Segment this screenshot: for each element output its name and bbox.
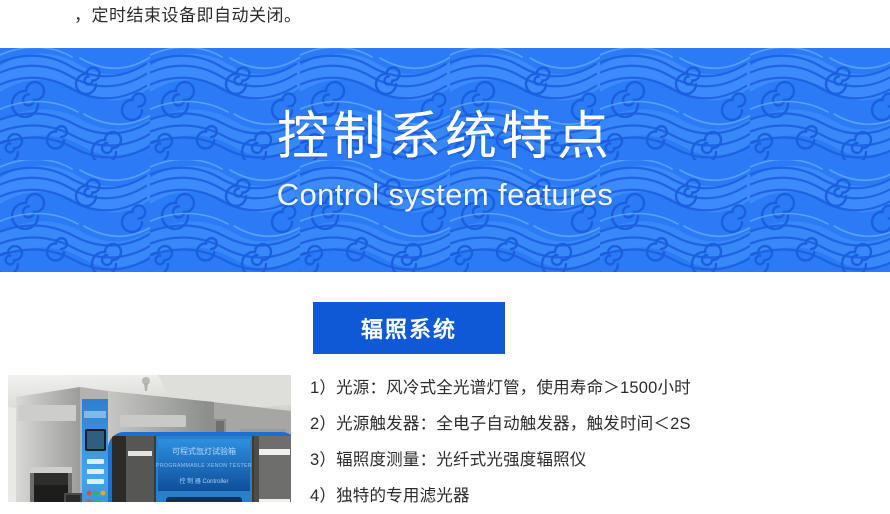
feature-list: 1）光源：风冷式全光谱灯管，使用寿命＞1500小时 2）光源触发器：全电子自动触… xyxy=(310,370,870,514)
section-tag-label: 辐照系统 xyxy=(361,312,457,344)
page-subtitle: Control system features xyxy=(277,177,614,213)
svg-text:PROGRAMMABLE XENON TESTER: PROGRAMMABLE XENON TESTER xyxy=(156,463,252,469)
banner-text-block: 控制系统特点 Control system features xyxy=(0,48,890,272)
continuation-paragraph: ，定时结束设备即自动关闭。 xyxy=(74,2,302,30)
section-tag-badge: 辐照系统 xyxy=(313,302,505,354)
section-banner: 控制系统特点 Control system features xyxy=(0,48,890,272)
top-text-region: ，定时结束设备即自动关闭。 xyxy=(0,0,890,48)
svg-text:控 制 器 Controller: 控 制 器 Controller xyxy=(179,477,228,485)
list-item: 3）辐照度测量：光纤式光强度辐照仪 xyxy=(310,442,870,478)
photo-inset: 可程式氙灯试验箱 PROGRAMMABLE XENON TESTER 控 制 器… xyxy=(108,432,291,502)
list-item: 4）独特的专用滤光器 xyxy=(310,478,870,514)
page-title: 控制系统特点 xyxy=(277,107,613,167)
product-photo: 可程式氙灯试验箱 PROGRAMMABLE XENON TESTER 控 制 器… xyxy=(8,375,291,502)
svg-text:可程式氙灯试验箱: 可程式氙灯试验箱 xyxy=(172,446,236,456)
list-item: 2）光源触发器：全电子自动触发器，触发时间＜2S xyxy=(310,406,870,442)
product-photo-image: 可程式氙灯试验箱 PROGRAMMABLE XENON TESTER 控 制 器… xyxy=(8,375,291,502)
list-item: 1）光源：风冷式全光谱灯管，使用寿命＞1500小时 xyxy=(310,370,870,406)
